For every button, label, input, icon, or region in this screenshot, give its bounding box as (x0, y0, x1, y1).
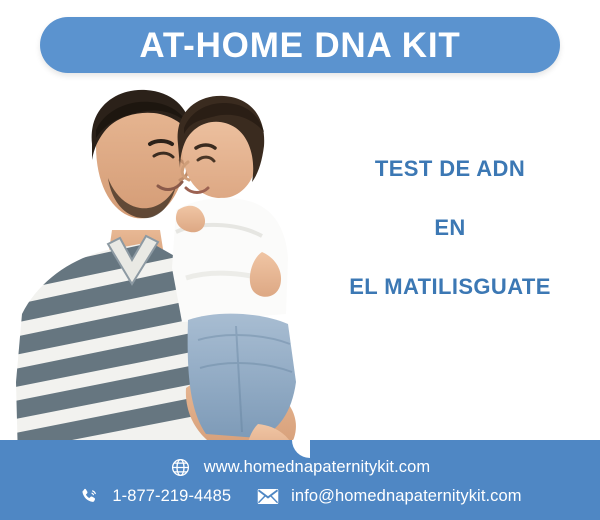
contact-email[interactable]: info@homednapaternitykit.com (257, 485, 522, 507)
headline-line-3: EL MATILISGUATE (310, 276, 590, 298)
page-title: AT-HOME DNA KIT (139, 28, 460, 63)
headline-line-1: TEST DE ADN (310, 158, 590, 180)
contact-phone[interactable]: 1-877-219-4485 (78, 485, 231, 507)
headline-block: TEST DE ADN EN EL MATILISGUATE (310, 158, 590, 298)
globe-icon (170, 456, 192, 478)
website-text: www.homednapaternitykit.com (204, 459, 430, 476)
envelope-icon (257, 485, 279, 507)
phone-text: 1-877-219-4485 (112, 488, 231, 505)
footer-row-website: www.homednapaternitykit.com (0, 456, 600, 478)
header-banner: AT-HOME DNA KIT (40, 17, 560, 73)
poster-canvas: AT-HOME DNA KIT (0, 0, 600, 520)
phone-icon (78, 485, 100, 507)
family-photo (0, 82, 330, 460)
family-photo-illustration (0, 82, 330, 460)
headline-line-2: EN (310, 217, 590, 239)
email-text: info@homednapaternitykit.com (291, 488, 522, 505)
contact-website[interactable]: www.homednapaternitykit.com (170, 456, 430, 478)
footer-row-phone-email: 1-877-219-4485 info@homednapaternitykit.… (0, 485, 600, 507)
